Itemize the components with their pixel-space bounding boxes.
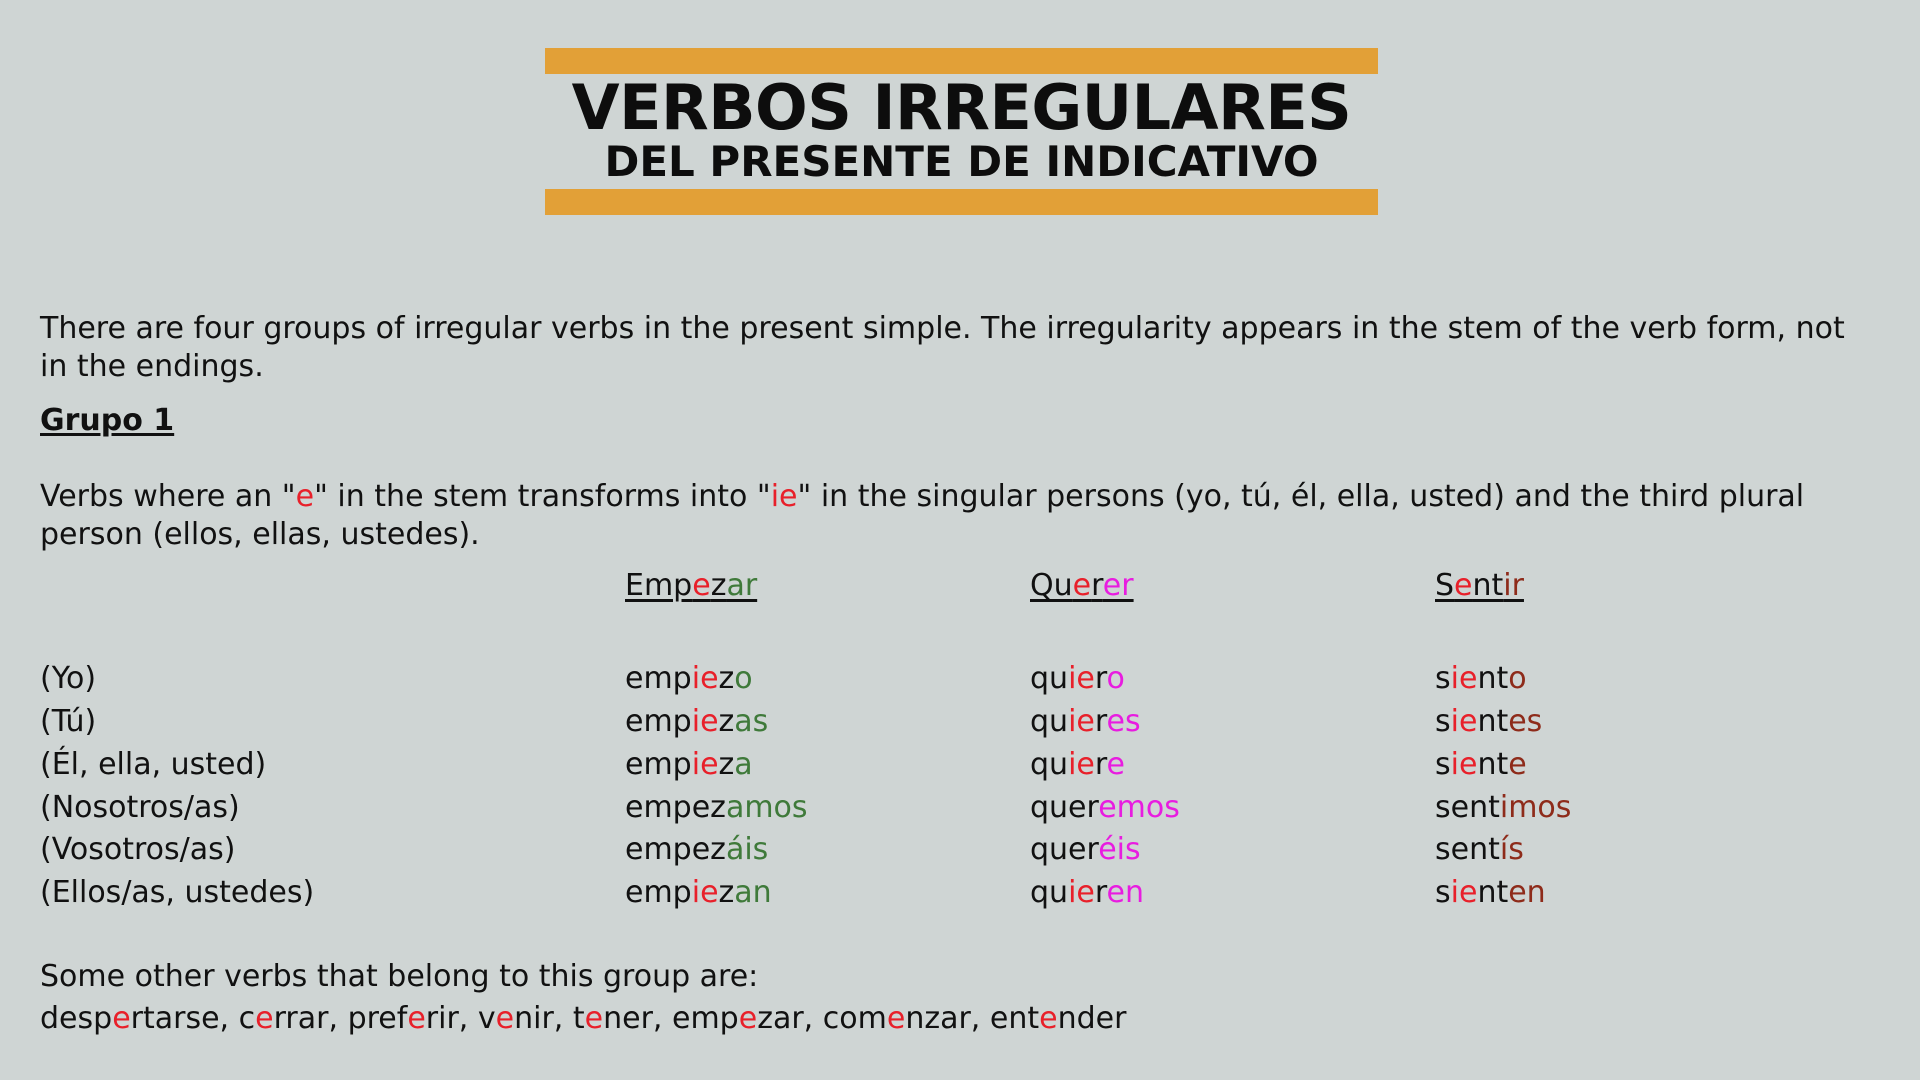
- form-querer-1-part-2: r: [1095, 704, 1107, 739]
- form-empezar-0-part-2: z: [719, 661, 735, 696]
- table-row: (Él, ella, usted)empiezaquieresiente: [40, 744, 1880, 787]
- table-header-row: Empezar Querer Sentir: [40, 565, 1880, 658]
- other-verb-6-pre: com: [823, 1001, 887, 1036]
- form-sentir-1-part-3: es: [1508, 704, 1542, 739]
- other-verb-3-post: nir,: [514, 1001, 563, 1036]
- conjugation-cell-querer: quiere: [1030, 744, 1435, 787]
- other-verb-6-post: nzar,: [905, 1001, 980, 1036]
- form-empezar-2-part-2: z: [719, 747, 735, 782]
- other-verb-7-post: nder: [1058, 1001, 1127, 1036]
- other-verb-4-post: ner,: [603, 1001, 662, 1036]
- infinitive-sentir-part-2: nt: [1473, 568, 1504, 603]
- form-sentir-5-part-0: s: [1435, 875, 1451, 910]
- pronoun-cell: (Vosotros/as): [40, 829, 625, 872]
- form-empezar-5-part-2: z: [719, 875, 735, 910]
- form-sentir-5-part-1: ie: [1451, 875, 1478, 910]
- form-sentir-4-part-1: ís: [1500, 832, 1524, 867]
- other-verb-5: empezar,: [672, 1001, 813, 1036]
- form-sentir-3-part-0: sent: [1435, 790, 1500, 825]
- other-verb-3-pre: v: [478, 1001, 496, 1036]
- form-sentir-5-part-3: en: [1508, 875, 1545, 910]
- form-sentir-0-part-1: ie: [1451, 661, 1478, 696]
- form-empezar-1-part-1: ie: [692, 704, 719, 739]
- desc-segment-1: Verbs where an ": [40, 479, 296, 514]
- conjugation-cell-sentir: siento: [1435, 658, 1880, 701]
- form-querer-3-part-0: quer: [1030, 790, 1098, 825]
- form-querer-2-part-0: qu: [1030, 747, 1068, 782]
- other-verb-2: preferir,: [348, 1001, 469, 1036]
- form-querer-4-part-0: quer: [1030, 832, 1098, 867]
- form-empezar-4-part-0: empez: [625, 832, 726, 867]
- form-empezar-2-part-1: ie: [692, 747, 719, 782]
- verb-infinitive-querer: Querer: [1030, 568, 1134, 603]
- form-querer-5-part-1: ie: [1068, 875, 1095, 910]
- form-empezar-1-part-3: as: [734, 704, 768, 739]
- conjugation-cell-querer: queréis: [1030, 829, 1435, 872]
- desc-highlight-e: e: [296, 479, 314, 514]
- other-verb-6: comenzar,: [823, 1001, 981, 1036]
- form-querer-2-part-3: e: [1107, 747, 1125, 782]
- form-empezar-1-part-2: z: [719, 704, 735, 739]
- form-empezar-3-part-0: empez: [625, 790, 726, 825]
- form-querer-5-part-0: qu: [1030, 875, 1068, 910]
- verb-infinitive-sentir: Sentir: [1435, 568, 1524, 603]
- table-row: (Ellos/as, ustedes)empiezanquierensiente…: [40, 872, 1880, 915]
- form-empezar-5-part-3: an: [734, 875, 771, 910]
- table-row: (Tú)empiezasquieressientes: [40, 701, 1880, 744]
- form-querer-2-part-2: r: [1095, 747, 1107, 782]
- other-verb-7-highlight: e: [1039, 1001, 1057, 1036]
- infinitive-querer-part-1: e: [1073, 568, 1091, 603]
- other-verb-1: cerrar,: [239, 1001, 338, 1036]
- form-querer-5-part-2: r: [1095, 875, 1107, 910]
- pronoun-cell: (Tú): [40, 701, 625, 744]
- form-querer-3-part-1: emos: [1098, 790, 1180, 825]
- intro-paragraph: There are four groups of irregular verbs…: [40, 310, 1880, 386]
- page-subtitle: DEL PRESENTE DE INDICATIVO: [545, 140, 1378, 185]
- form-empezar-2-part-3: a: [734, 747, 752, 782]
- infinitive-empezar-part-3: ar: [726, 568, 757, 603]
- column-header-verb-1: Empezar: [625, 565, 1030, 658]
- other-verb-0-pre: desp: [40, 1001, 112, 1036]
- form-sentir-3-part-1: imos: [1500, 790, 1572, 825]
- conjugation-cell-querer: queremos: [1030, 787, 1435, 830]
- other-verb-5-post: zar,: [757, 1001, 813, 1036]
- form-querer-1-part-0: qu: [1030, 704, 1068, 739]
- form-empezar-0-part-1: ie: [692, 661, 719, 696]
- form-sentir-0-part-2: nt: [1477, 661, 1508, 696]
- conjugation-cell-sentir: sientes: [1435, 701, 1880, 744]
- table-row: (Yo)empiezoquierosiento: [40, 658, 1880, 701]
- form-querer-1-part-1: ie: [1068, 704, 1095, 739]
- form-empezar-0-part-0: emp: [625, 661, 692, 696]
- form-sentir-5-part-2: nt: [1477, 875, 1508, 910]
- group-heading: Grupo 1: [40, 403, 174, 438]
- other-verb-4: tener,: [573, 1001, 663, 1036]
- other-verb-6-highlight: e: [887, 1001, 905, 1036]
- conjugation-cell-sentir: siente: [1435, 744, 1880, 787]
- form-empezar-5-part-0: emp: [625, 875, 692, 910]
- form-empezar-3-part-1: amos: [726, 790, 808, 825]
- conjugation-cell-querer: quieres: [1030, 701, 1435, 744]
- conjugation-cell-empezar: empezamos: [625, 787, 1030, 830]
- form-querer-0-part-3: o: [1107, 661, 1125, 696]
- infinitive-sentir-part-0: S: [1435, 568, 1454, 603]
- infinitive-querer-part-3: er: [1103, 568, 1134, 603]
- form-sentir-0-part-3: o: [1508, 661, 1526, 696]
- form-empezar-4-part-1: áis: [726, 832, 768, 867]
- form-sentir-4-part-0: sent: [1435, 832, 1500, 867]
- other-verb-4-pre: t: [573, 1001, 585, 1036]
- form-querer-4-part-1: éis: [1098, 832, 1140, 867]
- conjugation-cell-empezar: empiezan: [625, 872, 1030, 915]
- conjugation-cell-sentir: sienten: [1435, 872, 1880, 915]
- column-header-verb-3: Sentir: [1435, 565, 1880, 658]
- desc-segment-2: " in the stem transforms into ": [314, 479, 771, 514]
- column-header-verb-2: Querer: [1030, 565, 1435, 658]
- group-heading-wrap: Grupo 1: [40, 402, 174, 440]
- pronoun-cell: (Ellos/as, ustedes): [40, 872, 625, 915]
- form-sentir-2-part-2: nt: [1477, 747, 1508, 782]
- other-verb-1-pre: c: [239, 1001, 256, 1036]
- other-verb-4-highlight: e: [585, 1001, 603, 1036]
- form-sentir-2-part-1: ie: [1451, 747, 1478, 782]
- pronoun-cell: (Yo): [40, 658, 625, 701]
- other-verb-5-highlight: e: [739, 1001, 757, 1036]
- infinitive-sentir-part-3: ir: [1503, 568, 1524, 603]
- other-verb-2-highlight: e: [407, 1001, 425, 1036]
- form-empezar-5-part-1: ie: [692, 875, 719, 910]
- form-sentir-1-part-2: nt: [1477, 704, 1508, 739]
- form-querer-0-part-2: r: [1095, 661, 1107, 696]
- column-header-pronoun: [40, 565, 625, 658]
- other-verb-5-pre: emp: [672, 1001, 739, 1036]
- other-verbs-list: despertarse, cerrar, preferir, venir, te…: [40, 1000, 1126, 1038]
- form-querer-2-part-1: ie: [1068, 747, 1095, 782]
- conjugation-cell-querer: quiero: [1030, 658, 1435, 701]
- group-description: Verbs where an "e" in the stem transform…: [40, 478, 1830, 554]
- table-row: (Vosotros/as)empezáisqueréissentís: [40, 829, 1880, 872]
- form-sentir-1-part-0: s: [1435, 704, 1451, 739]
- infinitive-querer-part-2: r: [1091, 568, 1103, 603]
- form-sentir-0-part-0: s: [1435, 661, 1451, 696]
- conjugation-cell-empezar: empiezo: [625, 658, 1030, 701]
- other-verbs-intro: Some other verbs that belong to this gro…: [40, 958, 758, 996]
- infinitive-empezar-part-2: z: [711, 568, 727, 603]
- form-sentir-1-part-1: ie: [1451, 704, 1478, 739]
- conjugation-cell-empezar: empieza: [625, 744, 1030, 787]
- conjugation-cell-empezar: empezáis: [625, 829, 1030, 872]
- infinitive-sentir-part-1: e: [1454, 568, 1472, 603]
- form-empezar-1-part-0: emp: [625, 704, 692, 739]
- conjugation-body: (Yo)empiezoquierosiento(Tú)empiezasquier…: [40, 658, 1880, 915]
- form-sentir-2-part-3: e: [1508, 747, 1526, 782]
- title-block: VERBOS IRREGULARES DEL PRESENTE DE INDIC…: [545, 48, 1378, 215]
- pronoun-cell: (Nosotros/as): [40, 787, 625, 830]
- other-verb-1-highlight: e: [255, 1001, 273, 1036]
- page-title: VERBOS IRREGULARES: [545, 76, 1378, 140]
- form-sentir-2-part-0: s: [1435, 747, 1451, 782]
- pronoun-cell: (Él, ella, usted): [40, 744, 625, 787]
- conjugation-cell-sentir: sentís: [1435, 829, 1880, 872]
- table-row: (Nosotros/as)empezamosqueremossentimos: [40, 787, 1880, 830]
- verb-infinitive-empezar: Empezar: [625, 568, 757, 603]
- infinitive-empezar-part-1: e: [692, 568, 710, 603]
- other-verb-7: entender: [990, 1001, 1127, 1036]
- form-querer-5-part-3: en: [1107, 875, 1144, 910]
- other-verb-0: despertarse,: [40, 1001, 229, 1036]
- conjugation-table: Empezar Querer Sentir (Yo)empiezoquieros…: [40, 565, 1880, 915]
- other-verb-2-pre: pref: [348, 1001, 408, 1036]
- other-verb-7-pre: ent: [990, 1001, 1039, 1036]
- form-empezar-0-part-3: o: [734, 661, 752, 696]
- other-verb-3: venir,: [478, 1001, 563, 1036]
- desc-highlight-ie: ie: [771, 479, 798, 514]
- form-querer-0-part-0: qu: [1030, 661, 1068, 696]
- conjugation-cell-sentir: sentimos: [1435, 787, 1880, 830]
- other-verb-2-post: rir,: [426, 1001, 469, 1036]
- other-verb-3-highlight: e: [496, 1001, 514, 1036]
- other-verb-1-post: rrar,: [274, 1001, 338, 1036]
- form-empezar-2-part-0: emp: [625, 747, 692, 782]
- other-verb-0-post: rtarse,: [131, 1001, 229, 1036]
- infinitive-empezar-part-0: Emp: [625, 568, 692, 603]
- form-querer-1-part-3: es: [1107, 704, 1141, 739]
- other-verb-0-highlight: e: [112, 1001, 130, 1036]
- conjugation-cell-querer: quieren: [1030, 872, 1435, 915]
- conjugation-cell-empezar: empiezas: [625, 701, 1030, 744]
- title-bottom-rule: [545, 189, 1378, 215]
- infinitive-querer-part-0: Qu: [1030, 568, 1073, 603]
- form-querer-0-part-1: ie: [1068, 661, 1095, 696]
